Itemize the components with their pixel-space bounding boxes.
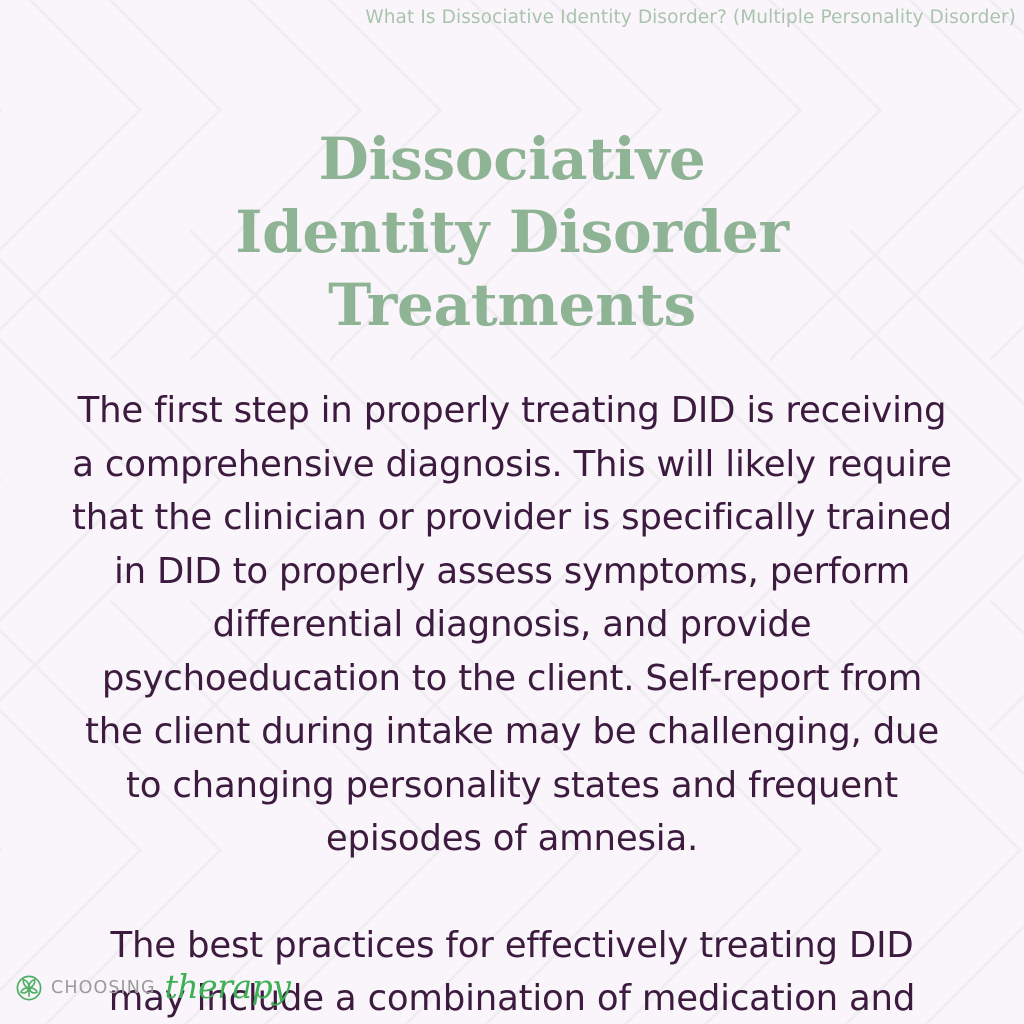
brand-logo[interactable]: CHOOSING therapy xyxy=(16,968,290,1008)
page-header: What Is Dissociative Identity Disorder? … xyxy=(0,0,1024,34)
logo-word-choosing: CHOOSING xyxy=(51,980,156,998)
page-title: Dissociative Identity Disorder Treatment… xyxy=(202,123,822,342)
logo-word-therapy: therapy xyxy=(165,970,291,1003)
header-article-title: What Is Dissociative Identity Disorder? … xyxy=(365,7,1016,28)
leaf-plant-icon xyxy=(16,975,42,1001)
body-paragraph-1: The first step in properly treating DID … xyxy=(72,384,952,866)
content-column: Dissociative Identity Disorder Treatment… xyxy=(0,0,1024,1024)
infographic-card: What Is Dissociative Identity Disorder? … xyxy=(0,0,1024,1024)
